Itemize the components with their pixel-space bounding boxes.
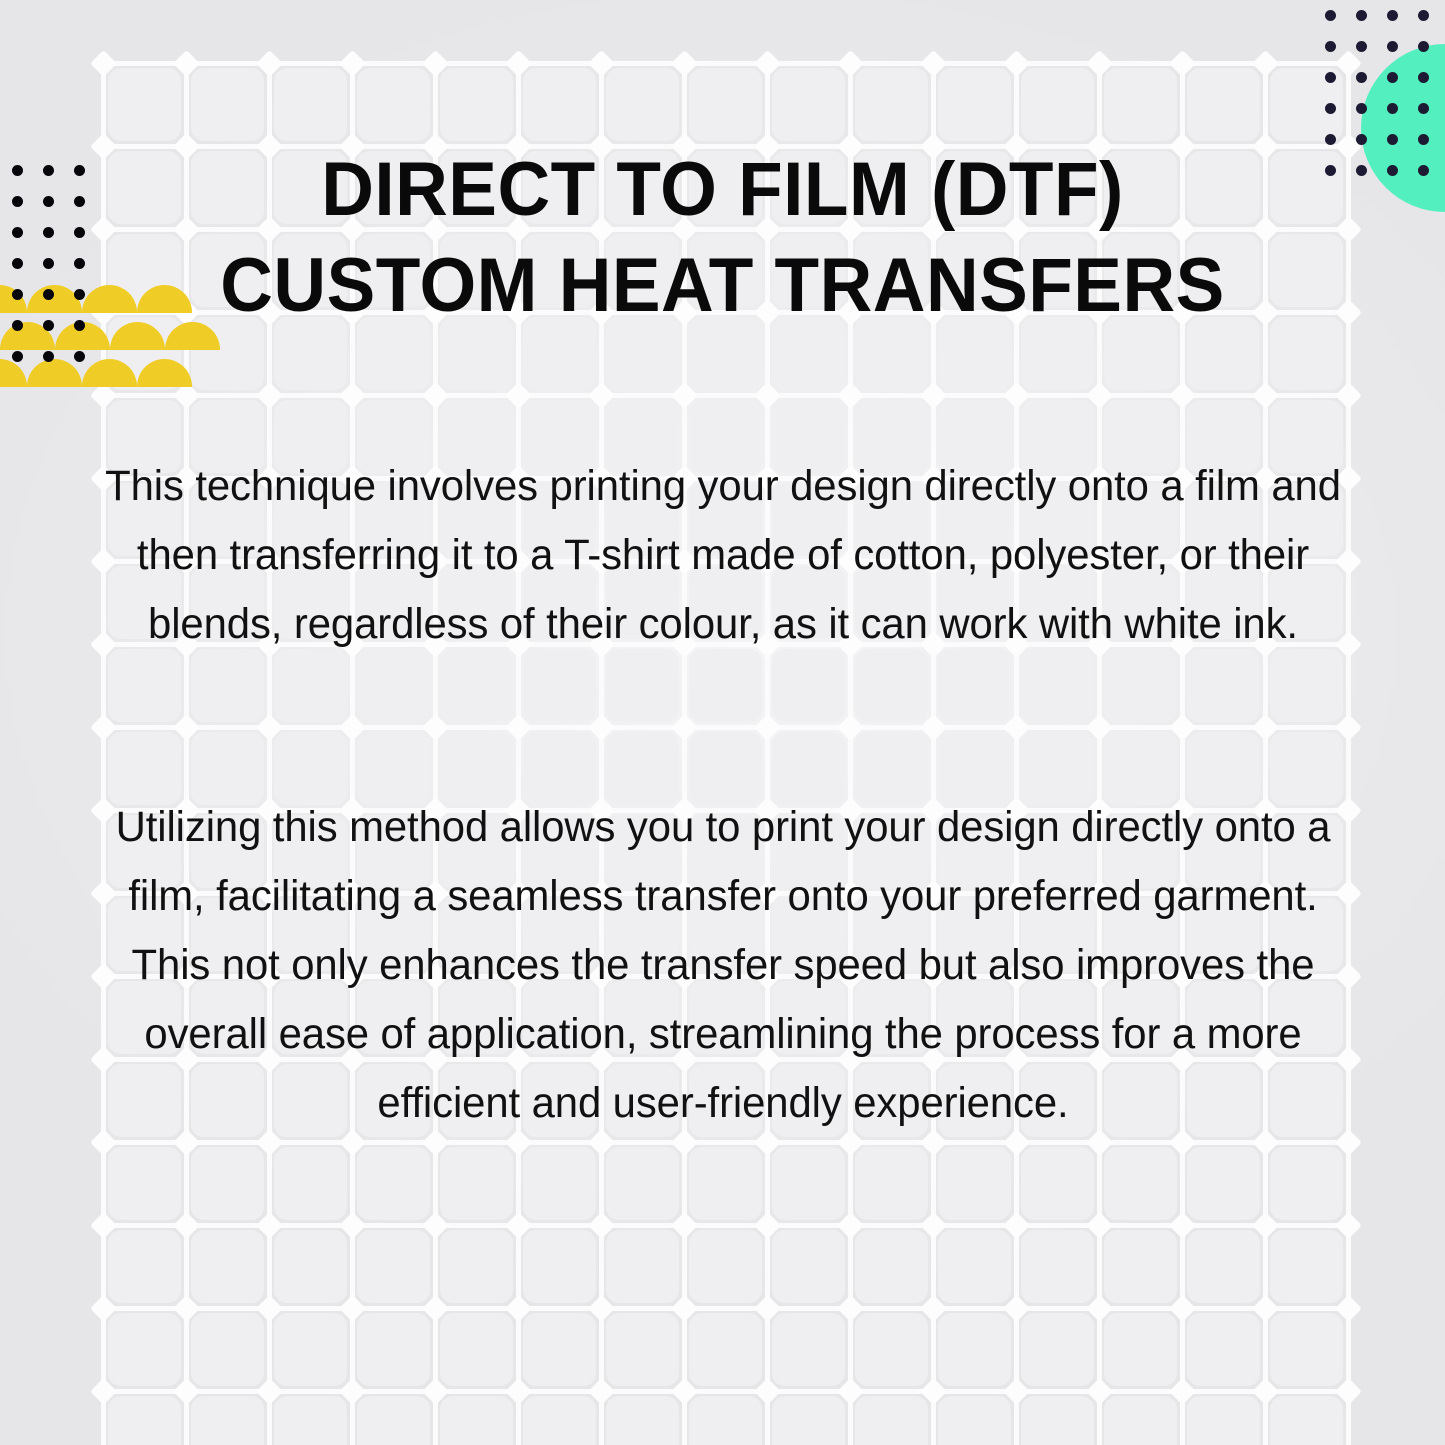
decorative-dot — [43, 351, 54, 362]
decorative-dot — [74, 196, 85, 207]
decorative-dot — [12, 196, 23, 207]
decorative-dot — [74, 351, 85, 362]
decorative-dot — [12, 258, 23, 269]
decorative-dot — [43, 196, 54, 207]
decorative-dot — [74, 320, 85, 331]
decorative-dot — [12, 165, 23, 176]
decorative-dot — [43, 227, 54, 238]
decorative-dot — [74, 289, 85, 300]
page-title: DIRECT TO FILM (DTF) CUSTOM HEAT TRANSFE… — [130, 142, 1316, 334]
poster-canvas: DIRECT TO FILM (DTF) CUSTOM HEAT TRANSFE… — [0, 0, 1445, 1445]
title-line-1: DIRECT TO FILM (DTF) — [130, 142, 1316, 238]
decorative-dot — [43, 289, 54, 300]
title-line-2: CUSTOM HEAT TRANSFERS — [130, 238, 1316, 334]
decorative-dot — [43, 165, 54, 176]
decorative-dot — [43, 258, 54, 269]
decorative-dot — [12, 227, 23, 238]
decorative-dot — [12, 351, 23, 362]
decorative-dot — [74, 165, 85, 176]
decorative-dot — [74, 227, 85, 238]
decorative-dot — [12, 320, 23, 331]
decorative-dot — [43, 320, 54, 331]
decorative-dot — [74, 258, 85, 269]
decorative-dot — [12, 289, 23, 300]
content-area: DIRECT TO FILM (DTF) CUSTOM HEAT TRANSFE… — [0, 0, 1445, 1445]
body-paragraph-2: Utilizing this method allows you to prin… — [101, 793, 1344, 1138]
body-paragraph-1: This technique involves printing your de… — [101, 452, 1344, 659]
